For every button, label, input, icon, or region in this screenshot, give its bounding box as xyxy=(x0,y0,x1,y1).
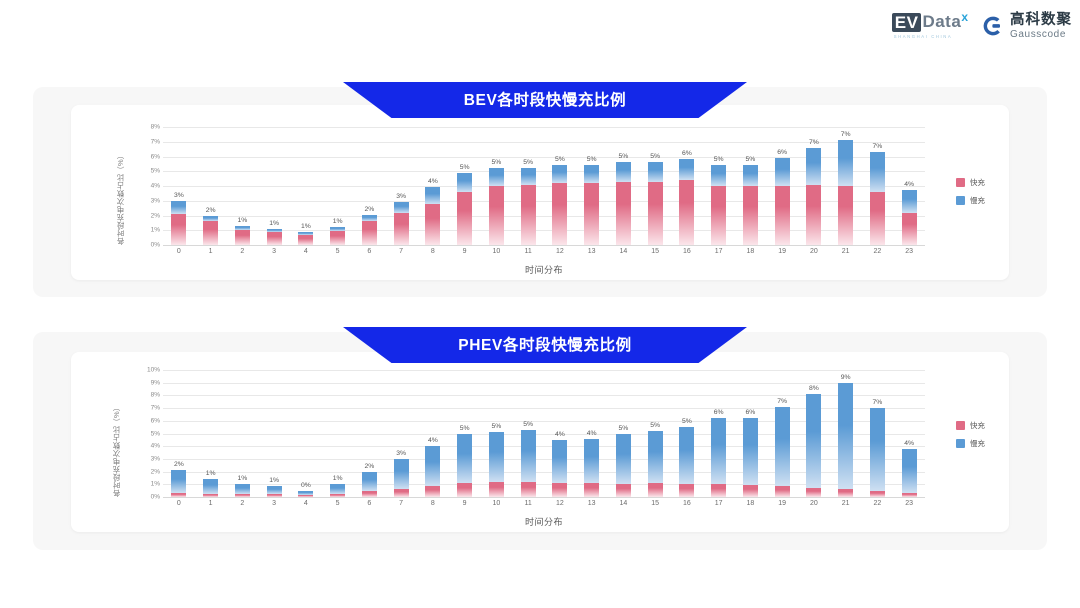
bar-segment-fast-charge[interactable] xyxy=(552,183,567,245)
bar-segment-fast-charge[interactable] xyxy=(521,185,536,245)
stacked-bar[interactable] xyxy=(362,215,377,245)
bar-segment-slow-charge[interactable] xyxy=(616,162,631,181)
bar-value-label: 6% xyxy=(745,409,755,416)
x-tick-label: 8 xyxy=(417,248,449,255)
bar-slot[interactable]: 6% xyxy=(671,127,703,245)
evdata-logo-main: EV Data x xyxy=(892,13,968,32)
bar-segment-slow-charge[interactable] xyxy=(171,470,186,492)
bar-segment-slow-charge[interactable] xyxy=(552,165,567,183)
bar-series-bev: 3%2%1%1%1%1%2%3%4%5%5%5%5%5%5%5%6%5%5%6%… xyxy=(163,127,925,245)
bar-segment-slow-charge[interactable] xyxy=(203,479,218,494)
legend-item[interactable]: 快充 xyxy=(956,177,985,188)
bar-segment-slow-charge[interactable] xyxy=(362,215,377,222)
bar-segment-fast-charge[interactable] xyxy=(330,231,345,245)
legend-swatch xyxy=(956,178,965,187)
bar-slot[interactable]: 1% xyxy=(322,370,354,497)
stacked-bar[interactable] xyxy=(489,432,504,497)
evdata-logo: EV Data x SHANGHAI CHINA xyxy=(892,13,968,39)
stacked-bar[interactable] xyxy=(711,165,726,245)
bar-segment-slow-charge[interactable] xyxy=(362,472,377,492)
bar-slot[interactable]: 9% xyxy=(830,370,862,497)
stacked-bar[interactable] xyxy=(870,408,885,497)
bar-value-label: 4% xyxy=(904,181,914,188)
bar-value-label: 1% xyxy=(237,475,247,482)
bar-slot[interactable]: 5% xyxy=(544,127,576,245)
bar-slot[interactable]: 1% xyxy=(258,127,290,245)
chart-title-bev: BEV各时段快慢充比例 xyxy=(464,88,626,110)
bar-segment-fast-charge[interactable] xyxy=(203,494,218,497)
bar-segment-fast-charge[interactable] xyxy=(330,494,345,497)
bar-segment-slow-charge[interactable] xyxy=(171,201,186,214)
evdata-logo-word: Data xyxy=(922,13,961,30)
x-tick-label: 12 xyxy=(544,500,576,507)
bar-slot[interactable]: 6% xyxy=(735,370,767,497)
stacked-bar[interactable] xyxy=(679,159,694,245)
bar-value-label: 5% xyxy=(491,159,501,166)
legend-item[interactable]: 快充 xyxy=(956,420,985,431)
stacked-bar[interactable] xyxy=(902,190,917,245)
bar-segment-fast-charge[interactable] xyxy=(806,488,821,497)
bar-segment-slow-charge[interactable] xyxy=(552,440,567,483)
stacked-bar[interactable] xyxy=(679,427,694,497)
bar-segment-fast-charge[interactable] xyxy=(457,192,472,245)
bar-segment-slow-charge[interactable] xyxy=(711,165,726,186)
bar-value-label: 3% xyxy=(396,193,406,200)
x-tick-label: 7 xyxy=(385,248,417,255)
stacked-bar[interactable] xyxy=(425,187,440,245)
bar-segment-slow-charge[interactable] xyxy=(838,383,853,490)
x-axis-ticks-phev: 01234567891011121314151617181920212223 xyxy=(163,500,925,507)
bar-segment-fast-charge[interactable] xyxy=(648,182,663,245)
bar-slot[interactable]: 2% xyxy=(354,370,386,497)
bar-segment-fast-charge[interactable] xyxy=(298,235,313,245)
plot-area-bev: 3%2%1%1%1%1%2%3%4%5%5%5%5%5%5%5%6%5%5%6%… xyxy=(163,127,925,245)
stacked-bar[interactable] xyxy=(838,383,853,497)
bar-value-label: 1% xyxy=(269,220,279,227)
bar-value-label: 4% xyxy=(428,178,438,185)
bar-segment-slow-charge[interactable] xyxy=(267,486,282,494)
bar-value-label: 0% xyxy=(301,482,311,489)
bar-segment-slow-charge[interactable] xyxy=(489,168,504,186)
y-axis-title-bev: 各时段充电次数占比（%） xyxy=(115,127,126,245)
bar-slot[interactable]: 1% xyxy=(227,127,259,245)
bar-segment-slow-charge[interactable] xyxy=(838,140,853,186)
stacked-bar[interactable] xyxy=(298,491,313,497)
bar-segment-slow-charge[interactable] xyxy=(616,434,631,484)
bar-segment-slow-charge[interactable] xyxy=(743,418,758,485)
x-tick-label: 10 xyxy=(481,248,513,255)
bar-segment-slow-charge[interactable] xyxy=(457,434,472,484)
y-tick-label: 8% xyxy=(151,124,160,131)
bar-segment-slow-charge[interactable] xyxy=(870,408,885,491)
bar-segment-slow-charge[interactable] xyxy=(521,168,536,184)
x-tick-label: 16 xyxy=(671,500,703,507)
bar-value-label: 4% xyxy=(428,437,438,444)
bar-slot[interactable]: 1% xyxy=(290,127,322,245)
legend-item[interactable]: 慢充 xyxy=(956,195,985,206)
stacked-bar[interactable] xyxy=(425,446,440,497)
bar-slot[interactable]: 5% xyxy=(449,370,481,497)
stacked-bar[interactable] xyxy=(743,165,758,245)
bar-segment-fast-charge[interactable] xyxy=(235,230,250,245)
bar-series-phev: 2%1%1%1%0%1%2%3%4%5%5%5%4%4%5%5%5%6%6%7%… xyxy=(163,370,925,497)
stacked-bar[interactable] xyxy=(330,484,345,497)
bar-value-label: 8% xyxy=(809,385,819,392)
bar-segment-slow-charge[interactable] xyxy=(457,173,472,192)
stacked-bar[interactable] xyxy=(521,168,536,245)
bar-slot[interactable]: 5% xyxy=(735,127,767,245)
bar-slot[interactable]: 7% xyxy=(766,370,798,497)
legend-swatch xyxy=(956,421,965,430)
y-tick-label: 9% xyxy=(151,379,160,386)
x-tick-label: 19 xyxy=(766,500,798,507)
slide-page: EV Data x SHANGHAI CHINA 高科数聚 Gausscode … xyxy=(0,0,1080,608)
x-tick-label: 20 xyxy=(798,248,830,255)
bar-value-label: 7% xyxy=(872,143,882,150)
bar-segment-slow-charge[interactable] xyxy=(425,446,440,486)
bar-slot[interactable]: 7% xyxy=(830,127,862,245)
bar-value-label: 7% xyxy=(777,398,787,405)
stacked-bar[interactable] xyxy=(235,226,250,245)
bar-segment-fast-charge[interactable] xyxy=(171,214,186,245)
x-axis-title-phev: 时间分布 xyxy=(163,515,925,528)
bar-value-label: 5% xyxy=(682,418,692,425)
bar-value-label: 3% xyxy=(174,192,184,199)
legend-label: 慢充 xyxy=(970,438,985,449)
bar-segment-fast-charge[interactable] xyxy=(362,491,377,497)
bar-segment-fast-charge[interactable] xyxy=(616,484,631,497)
x-tick-label: 21 xyxy=(830,248,862,255)
legend-label: 快充 xyxy=(970,420,985,431)
bar-segment-fast-charge[interactable] xyxy=(679,484,694,497)
bar-slot[interactable]: 4% xyxy=(893,370,925,497)
stacked-bar[interactable] xyxy=(870,152,885,245)
bar-segment-fast-charge[interactable] xyxy=(806,185,821,245)
stacked-bar[interactable] xyxy=(711,418,726,497)
bar-segment-slow-charge[interactable] xyxy=(902,449,917,493)
gausscode-mark-icon xyxy=(982,15,1004,37)
stacked-bar[interactable] xyxy=(171,201,186,245)
bar-segment-fast-charge[interactable] xyxy=(679,180,694,245)
bar-value-label: 1% xyxy=(333,475,343,482)
bar-slot[interactable]: 4% xyxy=(893,127,925,245)
bar-slot[interactable]: 3% xyxy=(385,370,417,497)
bar-slot[interactable]: 1% xyxy=(322,127,354,245)
bar-segment-fast-charge[interactable] xyxy=(203,221,218,245)
y-tick-label: 2% xyxy=(151,468,160,475)
bar-segment-slow-charge[interactable] xyxy=(584,165,599,183)
x-tick-label: 1 xyxy=(195,248,227,255)
x-tick-label: 16 xyxy=(671,248,703,255)
y-axis-ticks-bev: 0%1%2%3%4%5%6%7%8% xyxy=(139,127,160,245)
bar-segment-slow-charge[interactable] xyxy=(394,202,409,212)
bar-segment-slow-charge[interactable] xyxy=(870,152,885,192)
stacked-bar[interactable] xyxy=(235,484,250,497)
section-card-phev: 各时段充电次数占比（%）0%1%2%3%4%5%6%7%8%9%10%2%1%1… xyxy=(33,332,1047,550)
bar-slot[interactable]: 5% xyxy=(671,370,703,497)
stacked-bar[interactable] xyxy=(521,430,536,497)
x-tick-label: 7 xyxy=(385,500,417,507)
bar-segment-fast-charge[interactable] xyxy=(425,204,440,245)
bar-slot[interactable]: 0% xyxy=(290,370,322,497)
bar-slot[interactable]: 5% xyxy=(608,370,640,497)
bar-slot[interactable]: 2% xyxy=(354,127,386,245)
gausscode-logo: 高科数聚 Gausscode xyxy=(982,13,1072,40)
bar-segment-slow-charge[interactable] xyxy=(425,187,440,203)
bar-segment-fast-charge[interactable] xyxy=(171,493,186,497)
x-tick-label: 5 xyxy=(322,500,354,507)
y-tick-label: 5% xyxy=(151,168,160,175)
bar-segment-slow-charge[interactable] xyxy=(806,148,821,185)
bar-segment-fast-charge[interactable] xyxy=(743,485,758,497)
stacked-bar[interactable] xyxy=(330,227,345,245)
legend-item[interactable]: 慢充 xyxy=(956,438,985,449)
bar-segment-fast-charge[interactable] xyxy=(235,494,250,497)
bar-value-label: 1% xyxy=(206,470,216,477)
bar-segment-slow-charge[interactable] xyxy=(711,418,726,483)
stacked-bar[interactable] xyxy=(203,216,218,246)
bar-value-label: 4% xyxy=(555,431,565,438)
x-tick-label: 8 xyxy=(417,500,449,507)
legend-swatch xyxy=(956,196,965,205)
bar-segment-fast-charge[interactable] xyxy=(902,493,917,497)
bar-value-label: 5% xyxy=(460,425,470,432)
stacked-bar[interactable] xyxy=(584,439,599,497)
x-tick-label: 13 xyxy=(576,500,608,507)
bar-segment-fast-charge[interactable] xyxy=(870,192,885,245)
bar-segment-fast-charge[interactable] xyxy=(394,213,409,245)
stacked-bar[interactable] xyxy=(203,479,218,497)
bar-segment-slow-charge[interactable] xyxy=(902,190,917,212)
stacked-bar[interactable] xyxy=(552,440,567,497)
y-tick-label: 10% xyxy=(147,367,160,374)
title-banner-bev: BEV各时段快慢充比例 xyxy=(343,82,747,118)
y-tick-label: 1% xyxy=(151,481,160,488)
x-tick-label: 6 xyxy=(354,500,386,507)
bar-segment-fast-charge[interactable] xyxy=(902,213,917,245)
evdata-logo-superscript-icon: x xyxy=(961,13,968,22)
bar-segment-slow-charge[interactable] xyxy=(330,484,345,494)
stacked-bar[interactable] xyxy=(806,394,821,497)
bar-slot[interactable]: 6% xyxy=(703,370,735,497)
bar-segment-fast-charge[interactable] xyxy=(743,186,758,245)
bar-segment-fast-charge[interactable] xyxy=(489,186,504,245)
bar-segment-fast-charge[interactable] xyxy=(362,221,377,245)
stacked-bar[interactable] xyxy=(298,232,313,245)
bar-segment-slow-charge[interactable] xyxy=(679,159,694,180)
bar-value-label: 2% xyxy=(364,206,374,213)
bar-slot[interactable]: 5% xyxy=(512,127,544,245)
bar-value-label: 1% xyxy=(269,477,279,484)
bar-value-label: 5% xyxy=(650,153,660,160)
bar-segment-fast-charge[interactable] xyxy=(584,183,599,245)
bar-segment-fast-charge[interactable] xyxy=(775,486,790,497)
bar-slot[interactable]: 5% xyxy=(703,127,735,245)
x-tick-label: 3 xyxy=(258,248,290,255)
bar-segment-fast-charge[interactable] xyxy=(489,482,504,497)
stacked-bar[interactable] xyxy=(171,470,186,497)
bar-segment-fast-charge[interactable] xyxy=(870,491,885,497)
stacked-bar[interactable] xyxy=(457,434,472,498)
bar-slot[interactable]: 4% xyxy=(544,370,576,497)
bar-slot[interactable]: 5% xyxy=(576,127,608,245)
title-banner-phev: PHEV各时段快慢充比例 xyxy=(343,327,747,363)
legend-swatch xyxy=(956,439,965,448)
x-tick-label: 3 xyxy=(258,500,290,507)
bar-segment-fast-charge[interactable] xyxy=(394,489,409,497)
stacked-bar[interactable] xyxy=(267,229,282,245)
legend-phev: 快充慢充 xyxy=(956,420,985,449)
stacked-bar[interactable] xyxy=(806,148,821,245)
bar-segment-fast-charge[interactable] xyxy=(457,483,472,497)
evdata-logo-tagline: SHANGHAI CHINA xyxy=(894,34,952,39)
bar-value-label: 7% xyxy=(872,399,882,406)
bar-slot[interactable]: 5% xyxy=(481,370,513,497)
stacked-bar[interactable] xyxy=(584,165,599,245)
bar-slot[interactable]: 6% xyxy=(766,127,798,245)
bar-slot[interactable]: 1% xyxy=(258,370,290,497)
bar-segment-slow-charge[interactable] xyxy=(648,431,663,483)
x-tick-label: 9 xyxy=(449,500,481,507)
bar-segment-slow-charge[interactable] xyxy=(775,407,790,486)
bar-segment-fast-charge[interactable] xyxy=(648,483,663,497)
bar-slot[interactable]: 4% xyxy=(576,370,608,497)
stacked-bar[interactable] xyxy=(775,407,790,497)
bar-segment-slow-charge[interactable] xyxy=(775,158,790,186)
y-tick-label: 3% xyxy=(151,197,160,204)
bar-segment-slow-charge[interactable] xyxy=(806,394,821,488)
bar-slot[interactable]: 5% xyxy=(608,127,640,245)
stacked-bar[interactable] xyxy=(552,165,567,245)
bar-segment-slow-charge[interactable] xyxy=(489,432,504,482)
bar-segment-fast-charge[interactable] xyxy=(616,182,631,245)
bar-value-label: 1% xyxy=(333,218,343,225)
x-tick-label: 17 xyxy=(703,500,735,507)
stacked-bar[interactable] xyxy=(902,449,917,497)
bar-segment-fast-charge[interactable] xyxy=(584,483,599,497)
bar-segment-fast-charge[interactable] xyxy=(838,186,853,245)
bar-segment-slow-charge[interactable] xyxy=(394,459,409,489)
legend-label: 慢充 xyxy=(970,195,985,206)
bar-value-label: 1% xyxy=(301,223,311,230)
bar-slot[interactable]: 7% xyxy=(798,127,830,245)
x-tick-label: 2 xyxy=(227,500,259,507)
bar-slot[interactable]: 5% xyxy=(639,370,671,497)
y-tick-label: 7% xyxy=(151,405,160,412)
bar-value-label: 7% xyxy=(809,139,819,146)
bar-value-label: 7% xyxy=(841,131,851,138)
bar-segment-fast-charge[interactable] xyxy=(267,494,282,497)
bar-slot[interactable]: 5% xyxy=(481,127,513,245)
bar-segment-slow-charge[interactable] xyxy=(743,165,758,186)
bar-slot[interactable]: 1% xyxy=(227,370,259,497)
bar-segment-fast-charge[interactable] xyxy=(838,489,853,497)
x-tick-label: 11 xyxy=(512,248,544,255)
chart-phev: 各时段充电次数占比（%）0%1%2%3%4%5%6%7%8%9%10%2%1%1… xyxy=(71,352,1009,532)
stacked-bar[interactable] xyxy=(394,202,409,245)
bar-segment-fast-charge[interactable] xyxy=(552,483,567,497)
bar-segment-fast-charge[interactable] xyxy=(775,186,790,245)
bar-value-label: 4% xyxy=(904,440,914,447)
bar-segment-slow-charge[interactable] xyxy=(521,430,536,483)
stacked-bar[interactable] xyxy=(648,162,663,245)
header-logos: EV Data x SHANGHAI CHINA 高科数聚 Gausscode xyxy=(892,13,1072,40)
x-tick-label: 12 xyxy=(544,248,576,255)
bar-segment-fast-charge[interactable] xyxy=(425,486,440,497)
bar-slot[interactable]: 5% xyxy=(449,127,481,245)
plot-area-phev: 2%1%1%1%0%1%2%3%4%5%5%5%4%4%5%5%5%6%6%7%… xyxy=(163,370,925,497)
bar-slot[interactable]: 7% xyxy=(862,370,894,497)
bar-segment-fast-charge[interactable] xyxy=(711,186,726,245)
stacked-bar[interactable] xyxy=(457,173,472,245)
bar-segment-slow-charge[interactable] xyxy=(235,484,250,495)
x-tick-label: 15 xyxy=(639,500,671,507)
bar-slot[interactable]: 2% xyxy=(163,370,195,497)
bar-segment-fast-charge[interactable] xyxy=(711,484,726,497)
stacked-bar[interactable] xyxy=(267,486,282,497)
stacked-bar[interactable] xyxy=(838,140,853,245)
x-tick-label: 14 xyxy=(608,500,640,507)
x-tick-label: 5 xyxy=(322,248,354,255)
x-tick-label: 23 xyxy=(893,500,925,507)
bar-segment-slow-charge[interactable] xyxy=(584,439,599,483)
legend-label: 快充 xyxy=(970,177,985,188)
bar-slot[interactable]: 3% xyxy=(385,127,417,245)
bar-slot[interactable]: 4% xyxy=(417,127,449,245)
bar-segment-slow-charge[interactable] xyxy=(679,427,694,484)
stacked-bar[interactable] xyxy=(648,431,663,497)
bar-slot[interactable]: 7% xyxy=(862,127,894,245)
stacked-bar[interactable] xyxy=(616,162,631,245)
bar-value-label: 5% xyxy=(587,156,597,163)
bar-segment-slow-charge[interactable] xyxy=(648,162,663,181)
x-tick-label: 13 xyxy=(576,248,608,255)
bar-slot[interactable]: 2% xyxy=(195,127,227,245)
gausscode-logo-en: Gausscode xyxy=(1010,30,1072,40)
x-axis-title-bev: 时间分布 xyxy=(163,263,925,276)
y-tick-label: 0% xyxy=(151,494,160,501)
x-tick-label: 17 xyxy=(703,248,735,255)
gausscode-logo-cn: 高科数聚 xyxy=(1010,13,1072,28)
bar-slot[interactable]: 4% xyxy=(417,370,449,497)
stacked-bar[interactable] xyxy=(362,472,377,497)
bar-value-label: 9% xyxy=(841,374,851,381)
stacked-bar[interactable] xyxy=(616,434,631,498)
bar-slot[interactable]: 5% xyxy=(639,127,671,245)
bar-slot[interactable]: 3% xyxy=(163,127,195,245)
bar-segment-fast-charge[interactable] xyxy=(521,482,536,497)
x-tick-label: 20 xyxy=(798,500,830,507)
bar-slot[interactable]: 1% xyxy=(195,370,227,497)
gridline xyxy=(163,245,925,246)
bar-segment-fast-charge[interactable] xyxy=(298,495,313,497)
stacked-bar[interactable] xyxy=(743,418,758,497)
x-tick-label: 6 xyxy=(354,248,386,255)
x-tick-label: 2 xyxy=(227,248,259,255)
bar-segment-fast-charge[interactable] xyxy=(267,232,282,245)
x-tick-label: 9 xyxy=(449,248,481,255)
bar-value-label: 6% xyxy=(682,150,692,157)
stacked-bar[interactable] xyxy=(394,459,409,497)
bar-slot[interactable]: 5% xyxy=(512,370,544,497)
stacked-bar[interactable] xyxy=(489,168,504,245)
bar-slot[interactable]: 8% xyxy=(798,370,830,497)
y-tick-label: 3% xyxy=(151,455,160,462)
chart-title-phev: PHEV各时段快慢充比例 xyxy=(458,333,631,355)
y-tick-label: 6% xyxy=(151,153,160,160)
bar-value-label: 5% xyxy=(745,156,755,163)
stacked-bar[interactable] xyxy=(775,158,790,245)
